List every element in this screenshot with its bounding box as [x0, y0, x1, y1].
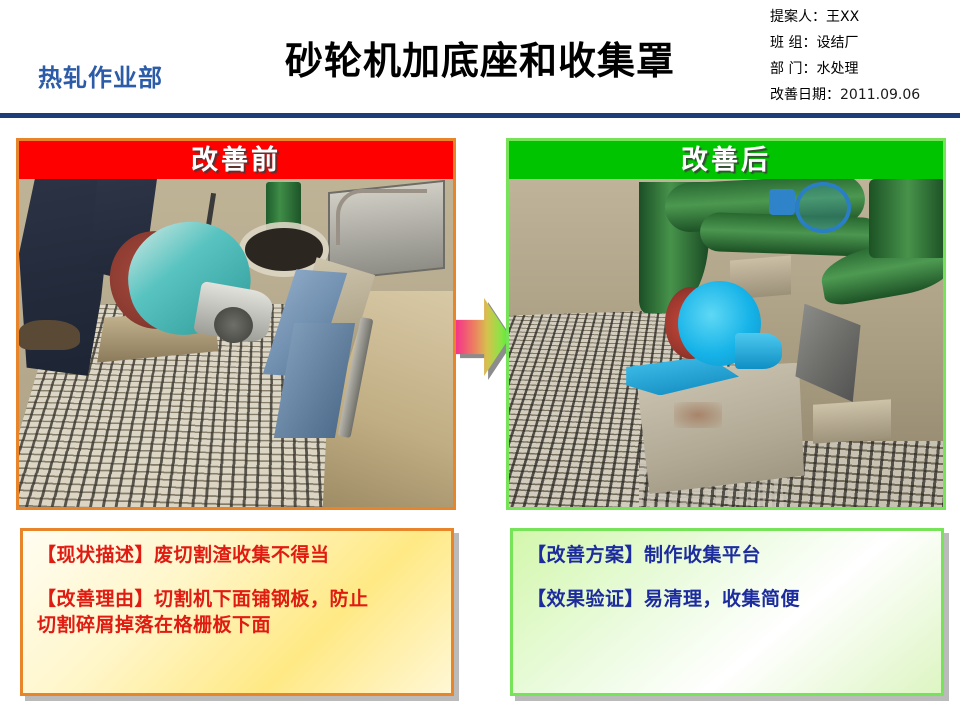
after-photo [509, 179, 943, 507]
green-pipe-vertical-right [869, 179, 943, 258]
current-status-line: 【现状描述】废切割渣收集不得当 [37, 543, 437, 569]
meta-row-team: 班 组：设结厂 [770, 30, 960, 56]
meta-label-date: 改善日期： [770, 87, 840, 103]
grating-opening [245, 228, 323, 271]
after-heading: 改善后 [509, 141, 943, 179]
blue-valve-wheel [795, 182, 851, 233]
cutter-motor [735, 333, 783, 369]
after-description-box: 【改善方案】制作收集平台 【效果验证】易清理，收集简便 [510, 528, 944, 696]
meta-label-department: 部 门： [770, 61, 816, 77]
department-label: 热轧作业部 [38, 58, 163, 93]
before-photo [19, 179, 453, 507]
worker-shoe [19, 320, 80, 350]
before-heading: 改善前 [19, 141, 453, 179]
improvement-plan-line: 【改善方案】制作收集平台 [527, 543, 927, 569]
arrow-right-icon [456, 298, 510, 376]
concrete-block-lower [813, 399, 891, 444]
meta-row-proposer: 提案人：王XX [770, 4, 960, 30]
meta-value-date: 2011.09.06 [840, 87, 920, 103]
background-handrail [336, 189, 427, 245]
meta-info-block: 提案人：王XX 班 组：设结厂 部 门：水处理 改善日期：2011.09.06 [770, 4, 960, 108]
plate-rust-mark [674, 402, 722, 428]
effect-verification-line: 【效果验证】易清理，收集简便 [527, 587, 927, 613]
header-divider [0, 113, 960, 118]
meta-label-team: 班 组： [770, 35, 816, 51]
after-panel: 改善后 [506, 138, 946, 510]
pipe-flange [769, 189, 795, 215]
before-panel: 改善前 [16, 138, 456, 510]
before-description-box: 【现状描述】废切割渣收集不得当 【改善理由】切割机下面铺钢板，防止 切割碎屑掉落… [20, 528, 454, 696]
meta-row-date: 改善日期：2011.09.06 [770, 82, 960, 108]
green-pipe-horizontal-lower [699, 212, 883, 258]
slide-header: 热轧作业部 砂轮机加底座和收集罩 提案人：王XX 班 组：设结厂 部 门：水处理… [0, 0, 960, 118]
improvement-reason-line-2: 切割碎屑掉落在格栅板下面 [37, 613, 437, 639]
meta-value-department: 水处理 [816, 61, 858, 77]
meta-row-department: 部 门：水处理 [770, 56, 960, 82]
spacer [527, 569, 927, 587]
page-title: 砂轮机加底座和收集罩 [200, 30, 760, 85]
improvement-reason-line-1: 【改善理由】切割机下面铺钢板，防止 [37, 587, 437, 613]
meta-value-team: 设结厂 [816, 35, 858, 51]
spacer [37, 569, 437, 587]
meta-label-proposer: 提案人： [770, 9, 826, 25]
meta-value-proposer: 王XX [826, 9, 859, 25]
